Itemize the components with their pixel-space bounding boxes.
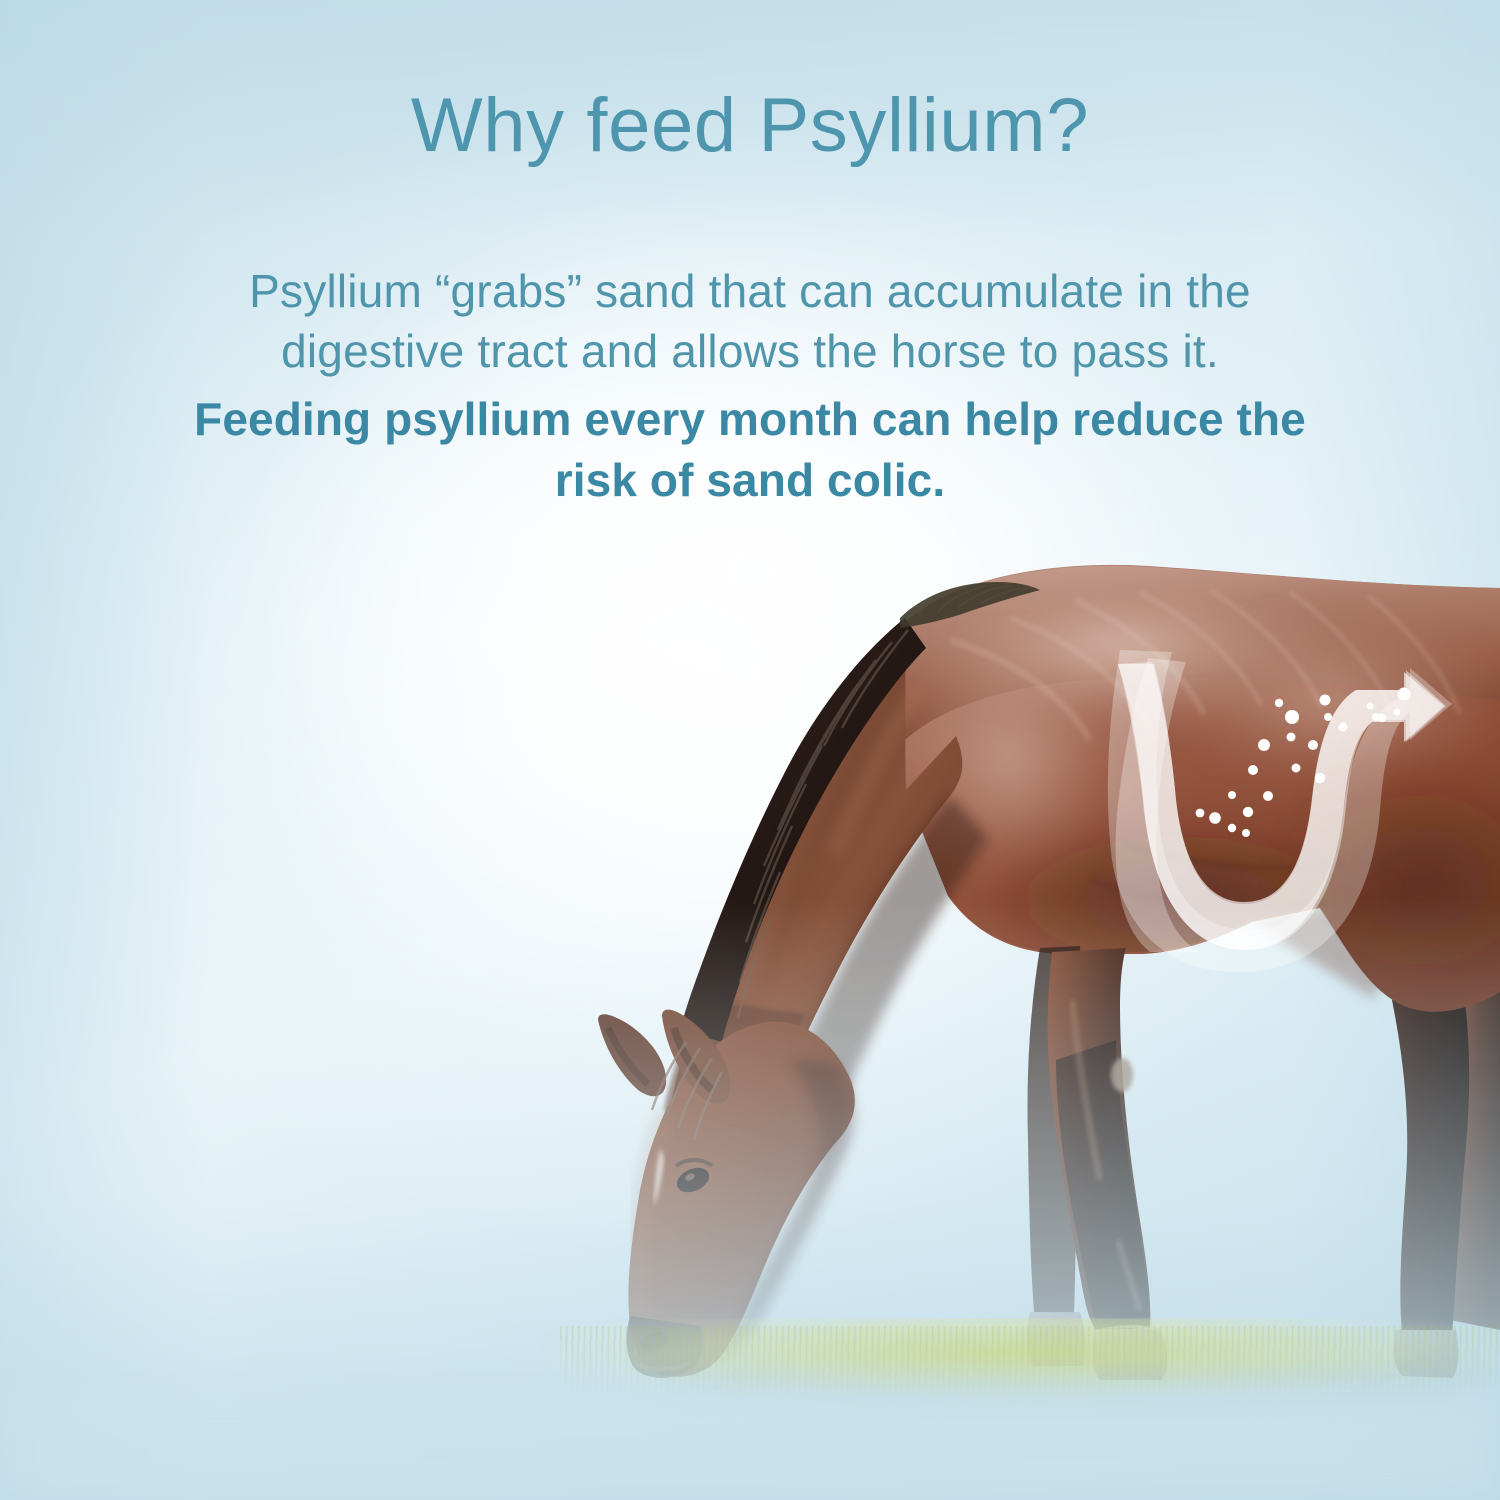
- emphasis-line-2: risk of sand colic.: [555, 454, 945, 506]
- fore-hoof-far: [1027, 1312, 1086, 1366]
- ear-far: [598, 1014, 666, 1096]
- graphic-canvas: Why feed Psyllium? Psyllium “grabs” sand…: [0, 0, 1500, 1500]
- hind-hoof: [1394, 1330, 1459, 1378]
- copy-block: Why feed Psyllium? Psyllium “grabs” sand…: [0, 0, 1500, 511]
- emphasis-line-1: Feeding psyllium every month can help re…: [194, 393, 1306, 445]
- lead-line-1: Psyllium “grabs” sand that can accumulat…: [249, 265, 1251, 317]
- lead-line-2: digestive tract and allows the horse to …: [281, 325, 1219, 377]
- page-title: Why feed Psyllium?: [0, 86, 1500, 166]
- emphasis-paragraph: Feeding psyllium every month can help re…: [60, 389, 1440, 510]
- leg-chestnut: [1111, 1058, 1133, 1092]
- lead-paragraph: Psyllium “grabs” sand that can accumulat…: [100, 262, 1400, 382]
